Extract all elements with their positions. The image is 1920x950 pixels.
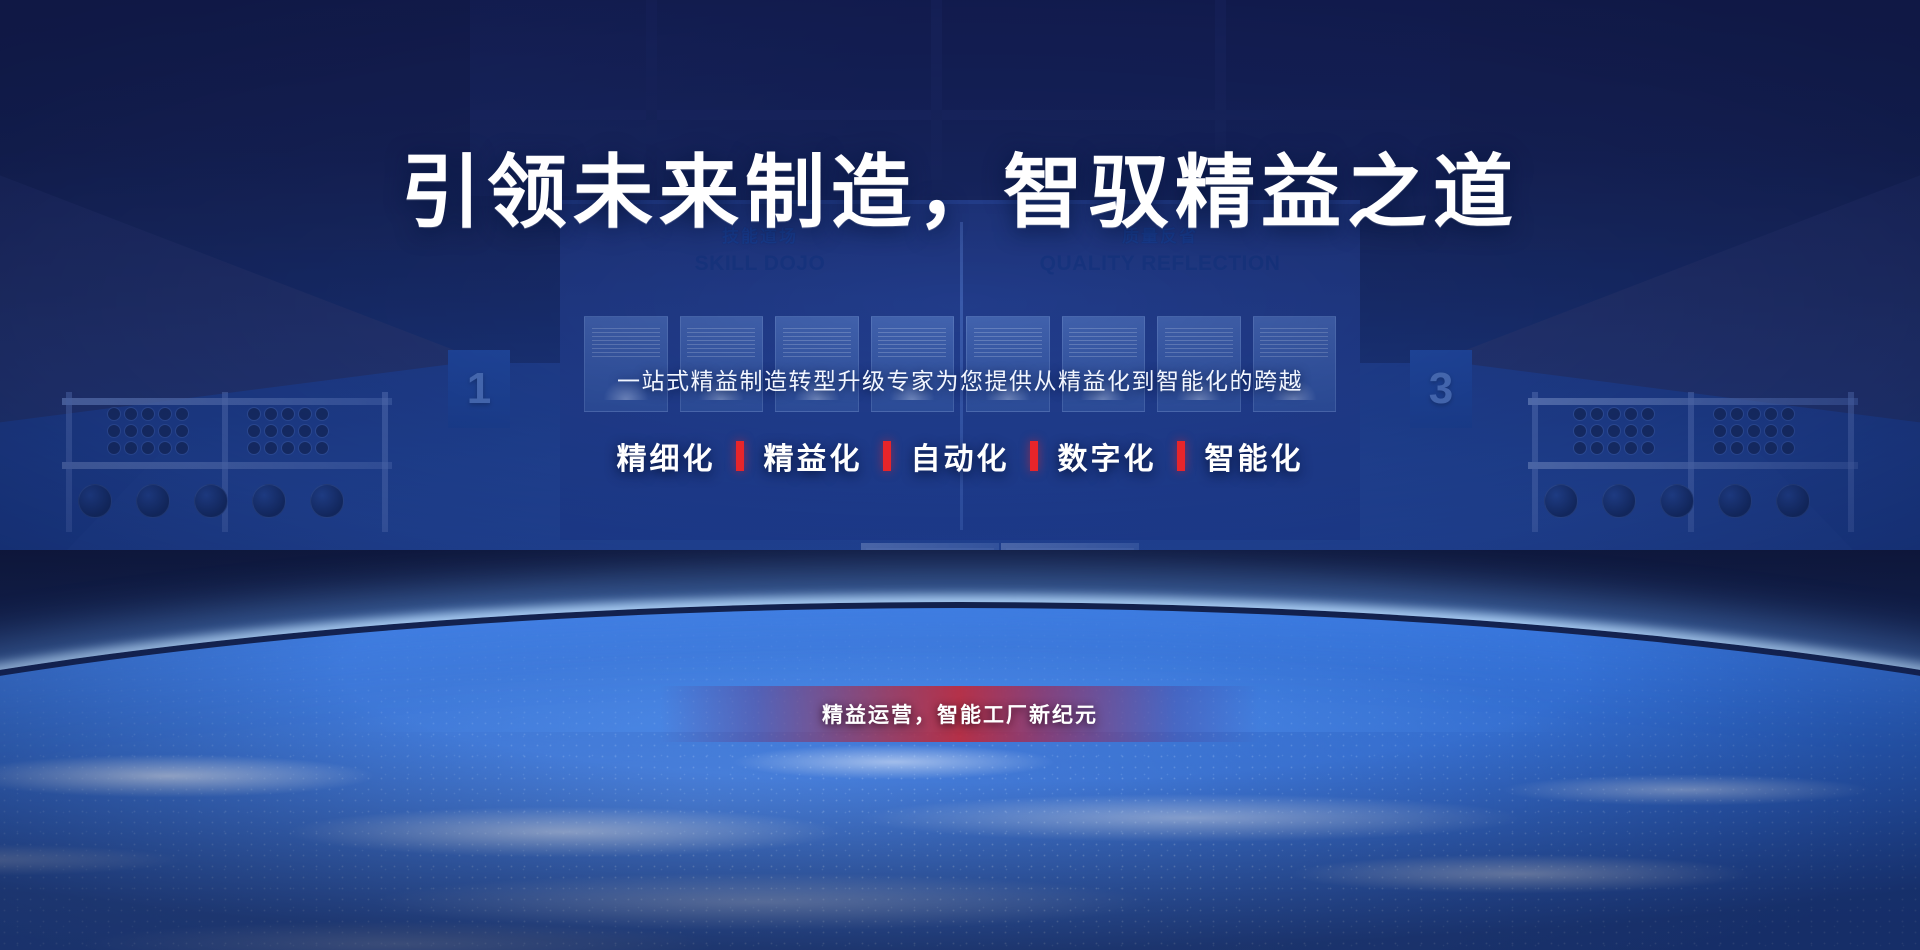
keyword-separator: [1177, 441, 1185, 471]
tagline-ribbon: 精益运营，智能工厂新纪元: [660, 686, 1260, 742]
keyword-item: 自动化: [911, 434, 1010, 478]
headline: 引领未来制造，智驭精益之道: [0, 128, 1920, 244]
hero-banner: 技能道场 SKILL DOJO 质量反省 QUALITY REFLECTION …: [0, 0, 1920, 950]
keyword-item: 智能化: [1205, 434, 1304, 478]
keyword-separator: [1030, 441, 1038, 471]
keyword-separator: [883, 441, 891, 471]
banner-content: 引领未来制造，智驭精益之道 一站式精益制造转型升级专家为您提供从精益化到智能化的…: [0, 0, 1920, 950]
subtitle: 一站式精益制造转型升级专家为您提供从精益化到智能化的跨越: [0, 362, 1920, 396]
tagline-text: 精益运营，智能工厂新纪元: [822, 699, 1098, 729]
keyword-separator: [736, 441, 744, 471]
keyword-item: 精益化: [764, 434, 863, 478]
keyword-item: 数字化: [1058, 434, 1157, 478]
keyword-item: 精细化: [617, 434, 716, 478]
keyword-list: 精细化 精益化 自动化 数字化 智能化: [0, 434, 1920, 478]
